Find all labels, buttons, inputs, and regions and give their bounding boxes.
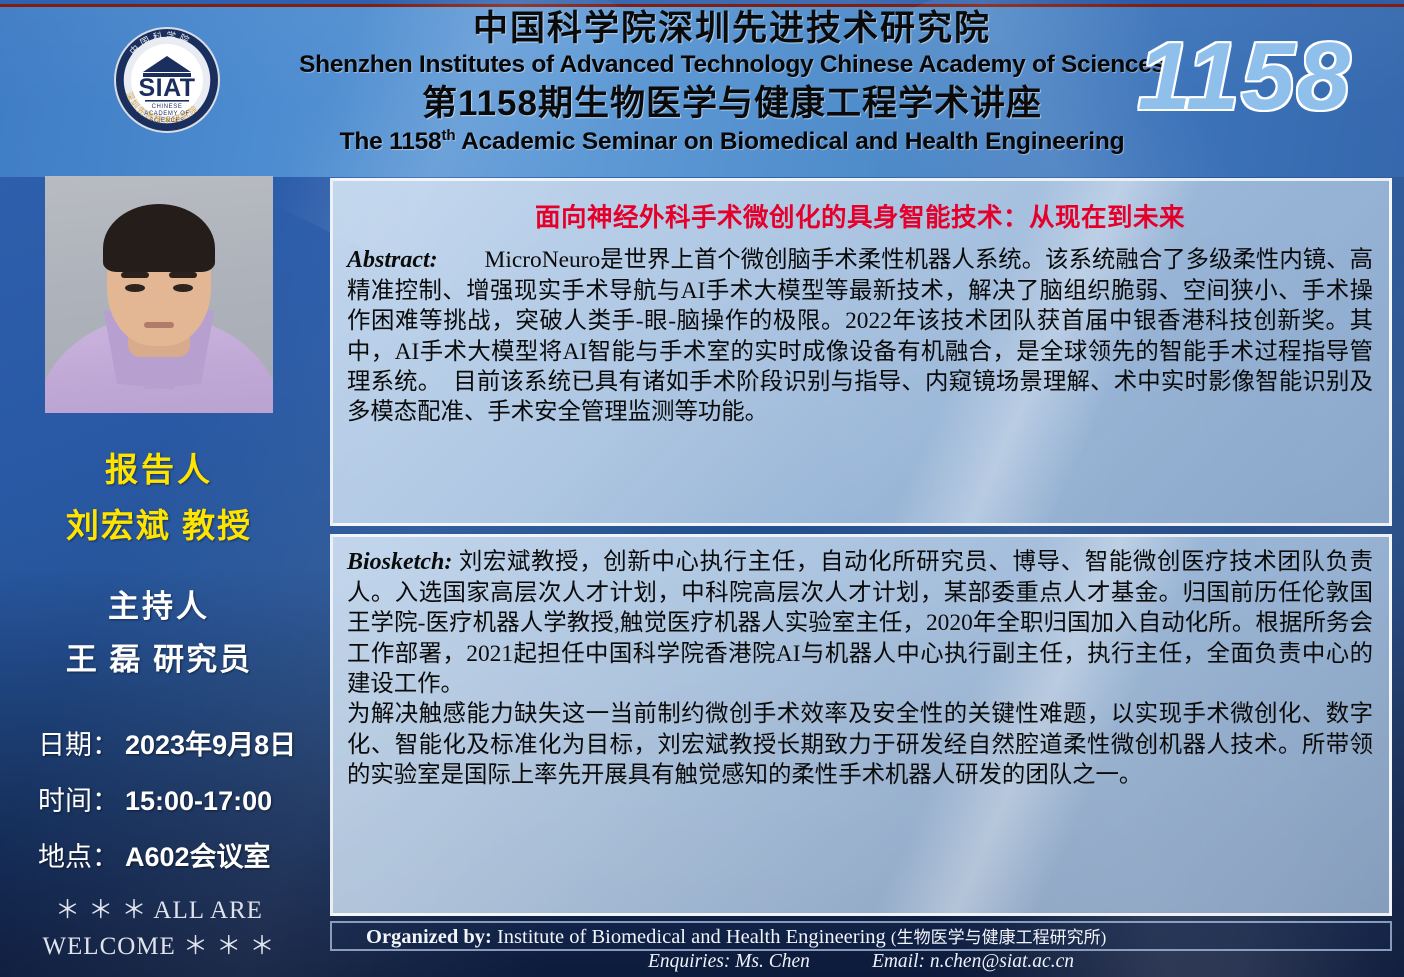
organizer-text: Organized by: Institute of Biomedical an… — [366, 923, 1106, 949]
portrait-eye-right — [173, 284, 193, 292]
detail-row-date: 日期：2023年9月8日 — [38, 723, 318, 762]
talk-title: 面向神经外科手术微创化的具身智能技术：从现在到未来 — [347, 197, 1373, 234]
speaker-portrait-photo — [45, 176, 273, 413]
organized-by-value: Institute of Biomedical and Health Engin… — [492, 926, 891, 948]
biosketch-paragraph-2: 为解决触感能力缺失这一当前制约微创手术效率及安全性的关键性难题，以实现手术微创化… — [347, 699, 1373, 790]
all-are-welcome-text: ＊ ＊ ＊ ALL ARE WELCOME ＊ ＊ ＊ — [0, 890, 318, 962]
biosketch-paragraph-1: 刘宏斌教授，创新中心执行主任，自动化所研究员、博导、智能微创医疗技术团队负责人。… — [347, 549, 1373, 697]
enquiries-contact: Enquiries: Ms. Chen — [648, 951, 810, 972]
portrait-eyebrow-left — [121, 272, 149, 278]
seminar-en-suffix: Academic Seminar on Biomedical and Healt… — [455, 128, 1124, 155]
abstract-body: Abstract: MicroNeuro是世界上首个微创脑手术柔性机器人系统。该… — [347, 245, 1373, 428]
speaker-name: 刘宏斌 教授 — [0, 499, 318, 547]
speaker-role-label: 报告人 — [0, 443, 318, 491]
venue-value: A602会议室 — [125, 842, 271, 872]
venue-label: 地点： — [38, 842, 119, 872]
detail-row-time: 时间：15:00-17:00 — [38, 779, 318, 818]
portrait-eye-left — [125, 284, 145, 292]
organized-by-value-cn: (生物医学与健康工程研究所) — [891, 928, 1106, 947]
biosketch-panel: Biosketch: 刘宏斌教授，创新中心执行主任，自动化所研究员、博导、智能微… — [330, 534, 1392, 916]
organized-by-label: Organized by: — [366, 926, 492, 948]
date-value: 2023年9月8日 — [125, 730, 296, 760]
enquiries-email[interactable]: Email: n.chen@siat.ac.cn — [872, 951, 1074, 972]
event-details-list: 日期：2023年9月8日 时间：15:00-17:00 地点：A602会议室 — [0, 723, 318, 874]
time-label: 时间： — [38, 786, 119, 816]
host-name: 王 磊 研究员 — [0, 634, 318, 679]
seminar-title-en: The 1158th Academic Seminar on Biomedica… — [250, 127, 1214, 157]
seminar-en-prefix: The 1158 — [340, 128, 442, 155]
abstract-panel: 面向神经外科手术微创化的具身智能技术：从现在到未来 Abstract: Micr… — [330, 178, 1392, 526]
siat-logo: SIAT CHINESE ACADEMY OF SCIENCES 中国科学院 深… — [113, 26, 221, 134]
header-text-block: 中国科学院深圳先进技术研究院 Shenzhen Institutes of Ad… — [250, 8, 1214, 156]
biosketch-label: Biosketch: — [347, 549, 452, 575]
seminar-en-ordinal: th — [441, 127, 455, 144]
svg-text:CHINESE: CHINESE — [152, 104, 183, 110]
seminar-title-cn: 第1158期生物医学与健康工程学术讲座 — [250, 83, 1214, 126]
institute-name-cn: 中国科学院深圳先进技术研究院 — [250, 8, 1214, 49]
enquiries-bar: Enquiries: Ms. ChenEmail: n.chen@siat.ac… — [330, 951, 1392, 977]
portrait-hair — [103, 204, 215, 272]
seminar-poster: SIAT CHINESE ACADEMY OF SCIENCES 中国科学院 深… — [0, 0, 1404, 977]
biosketch-body: Biosketch: 刘宏斌教授，创新中心执行主任，自动化所研究员、博导、智能微… — [347, 547, 1373, 790]
abstract-label: Abstract: — [347, 247, 438, 273]
date-label: 日期： — [38, 730, 119, 760]
svg-text:SIAT: SIAT — [138, 74, 195, 102]
portrait-mouth — [144, 322, 174, 328]
institute-name-en: Shenzhen Institutes of Advanced Technolo… — [250, 50, 1214, 81]
detail-row-venue: 地点：A602会议室 — [38, 835, 318, 874]
issue-number-watermark: 1158 — [1138, 22, 1352, 132]
left-sidebar: 报告人 刘宏斌 教授 主持人 王 磊 研究员 日期：2023年9月8日 时间：1… — [0, 176, 318, 976]
time-value: 15:00-17:00 — [125, 786, 272, 816]
host-role-label: 主持人 — [0, 581, 318, 626]
portrait-eyebrow-right — [169, 272, 197, 278]
organizer-bar: Organized by: Institute of Biomedical an… — [330, 921, 1392, 951]
abstract-text: MicroNeuro是世界上首个微创脑手术柔性机器人系统。该系统融合了多级柔性内… — [347, 247, 1373, 425]
